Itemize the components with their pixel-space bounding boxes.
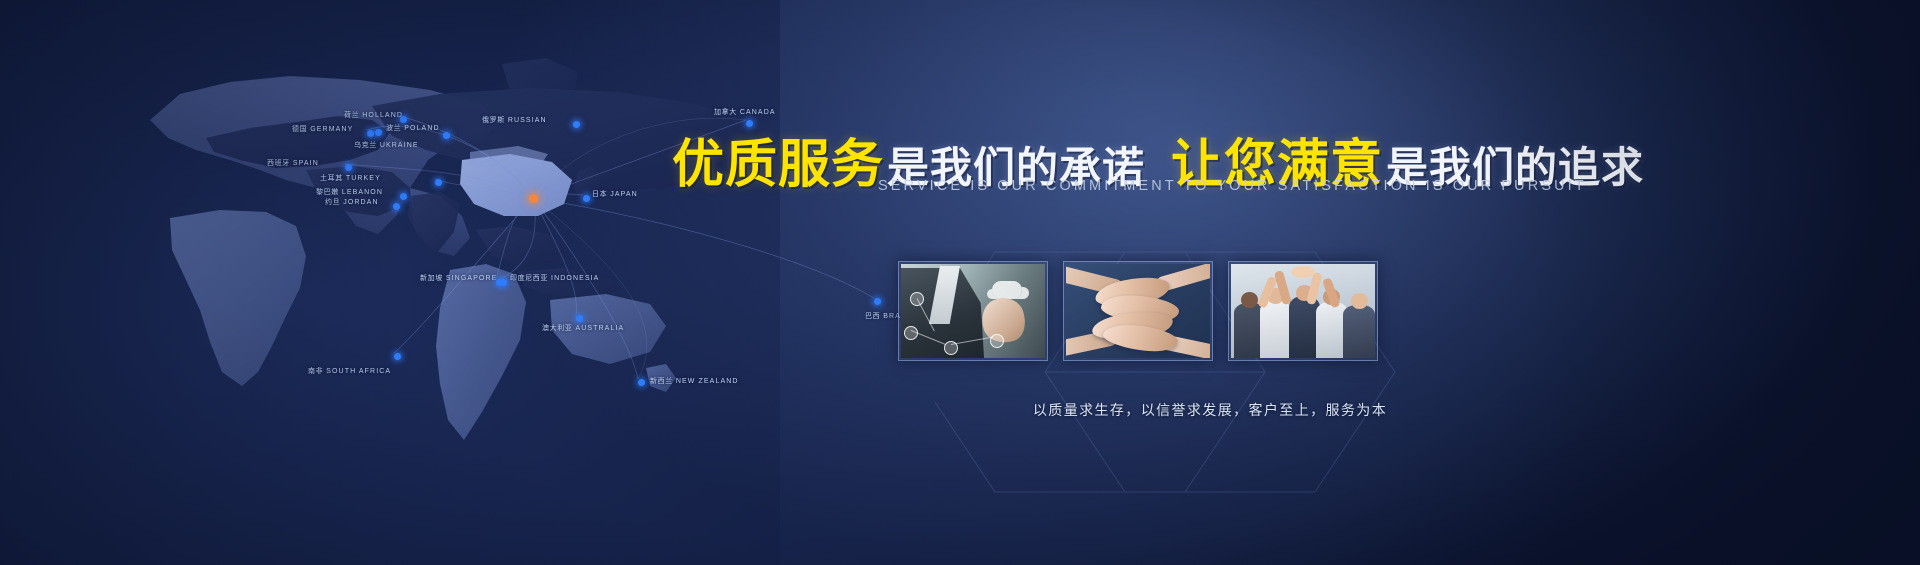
map-dot-south-africa (394, 353, 401, 360)
map-label-cn: 印度尼西亚 (510, 275, 548, 282)
map-label-cn: 土耳其 (320, 175, 343, 182)
map-label-en: GERMANY (307, 126, 353, 133)
map-dot-brazil (874, 298, 881, 305)
landmass-southeast-asia (476, 226, 572, 266)
photo-team-highfive[interactable] (1228, 261, 1378, 361)
map-label-turkey: 土耳其 TURKEY (320, 173, 381, 183)
map-dot-germany (367, 130, 374, 137)
landmass-south-america (436, 264, 526, 440)
map-dot-spain (345, 164, 352, 171)
map-label-canada: 加拿大 CANADA (714, 107, 776, 117)
map-label-en: RUSSIAN (505, 117, 547, 124)
photo-strip (898, 261, 1378, 361)
map-label-australia: 澳大利亚 AUSTRALIA (542, 323, 624, 333)
map-dot-holland (400, 116, 407, 123)
map-label-ukraine: 乌克兰 UKRAINE (354, 140, 419, 150)
map-label-en: HOLLAND (359, 112, 403, 119)
map-label-cn: 加拿大 (714, 109, 737, 116)
map-label-lebanon: 黎巴嫩 LEBANON (316, 187, 383, 197)
map-label-en: UKRAINE (377, 142, 419, 149)
map-label-cn: 俄罗斯 (482, 117, 505, 124)
map-label-en: LEBANON (339, 189, 383, 196)
world-map (110, 20, 950, 490)
photo3-clasped-hands (1291, 266, 1314, 278)
hero-banner: 荷兰 HOLLAND德国 GERMANY波兰 POLAND俄罗斯 RUSSIAN… (0, 0, 1920, 565)
map-label-south-africa: 南非 SOUTH AFRICA (308, 366, 391, 376)
map-label-en: NEW ZEALAND (673, 378, 739, 385)
map-label-holland: 荷兰 HOLLAND (344, 110, 403, 120)
map-label-cn: 巴西 (865, 313, 880, 320)
map-label-japan: 日本 JAPAN (592, 189, 638, 199)
map-label-singapore: 新加坡 SINGAPORE (420, 273, 497, 283)
map-dot-new-zealand (638, 379, 645, 386)
map-label-cn: 南非 (308, 368, 323, 375)
map-label-en: POLAND (401, 125, 439, 132)
map-dot-jordan (393, 203, 400, 210)
map-label-cn: 新西兰 (650, 378, 673, 385)
map-dot-lebanon (400, 193, 407, 200)
map-label-cn: 新加坡 (420, 275, 443, 282)
map-dot-poland (375, 129, 382, 136)
map-label-cn: 波兰 (386, 125, 401, 132)
map-label-cn: 德国 (292, 126, 307, 133)
map-label-cn: 黎巴嫩 (316, 189, 339, 196)
map-label-poland: 波兰 POLAND (386, 123, 440, 133)
map-label-cn: 西班牙 (267, 160, 290, 167)
map-label-indonesia: 印度尼西亚 INDONESIA (510, 273, 599, 283)
map-dot-japan (583, 195, 590, 202)
map-label-spain: 西班牙 SPAIN (267, 158, 319, 168)
photo-stacked-hands[interactable] (1063, 261, 1213, 361)
map-label-en: INDONESIA (548, 275, 599, 282)
map-label-en: SOUTH AFRICA (323, 368, 391, 375)
map-label-en: CANADA (737, 109, 776, 116)
photo3-person-body (1343, 305, 1375, 358)
map-label-new-zealand: 新西兰 NEW ZEALAND (650, 376, 739, 386)
landmass-africa (170, 210, 306, 386)
map-label-germany: 德国 GERMANY (292, 124, 353, 134)
photo-network-touch[interactable] (898, 261, 1048, 361)
map-dot-ukraine (443, 132, 450, 139)
map-dot-indonesia (500, 279, 507, 286)
map-label-cn: 日本 (592, 191, 607, 198)
map-label-jordan: 约旦 JORDAN (325, 197, 379, 207)
headline-subtitle-english: SERVICE IS OUR COMMITMENT TO YOUR SATISF… (878, 178, 1587, 194)
map-dot-australia (576, 315, 583, 322)
map-label-cn: 乌克兰 (354, 142, 377, 149)
map-dot-turkey (435, 179, 442, 186)
map-dot-china (529, 194, 538, 203)
map-label-cn: 约旦 (325, 199, 340, 206)
world-map-svg (110, 20, 950, 490)
photo3-person-body (1260, 300, 1292, 358)
map-label-en: SINGAPORE (443, 275, 498, 282)
cloud-icon (992, 281, 1022, 299)
map-label-en: TURKEY (343, 175, 381, 182)
bottom-tagline: 以质量求生存，以信誉求发展，客户至上，服务为本 (990, 400, 1430, 420)
photo3-person-head (1351, 293, 1368, 309)
map-label-russian: 俄罗斯 RUSSIAN (482, 115, 547, 125)
map-label-en: AUSTRALIA (572, 325, 624, 332)
map-label-en: JAPAN (607, 191, 638, 198)
headline-yellow-1: 优质服务 (672, 122, 884, 197)
map-dot-russian (573, 121, 580, 128)
map-label-en: SPAIN (290, 160, 319, 167)
map-label-en: JORDAN (340, 199, 378, 206)
map-label-cn: 荷兰 (344, 112, 359, 119)
map-label-cn: 澳大利亚 (542, 325, 572, 332)
